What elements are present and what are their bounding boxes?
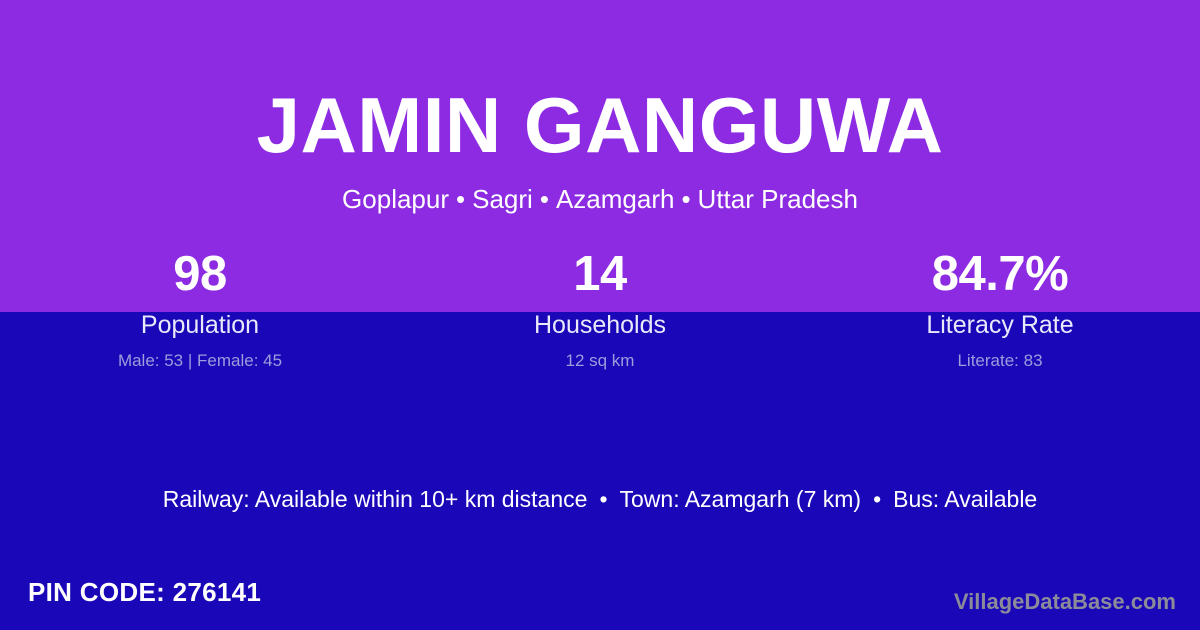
stat-households-label: Households [400,309,800,341]
breadcrumb-item-district: Azamgarh [556,184,675,214]
pin-code: PIN CODE: 276141 [28,576,261,608]
infrastructure-item-town: Town: Azamgarh (7 km) [620,486,862,512]
infrastructure-item-bus: Bus: Available [893,486,1037,512]
breadcrumb-separator: • [674,184,697,214]
page-title: JAMIN GANGUWA [0,80,1200,170]
stat-households-value: 14 [400,245,800,303]
breadcrumb: Goplapur•Sagri•Azamgarh•Uttar Pradesh [0,183,1200,215]
stat-population-value: 98 [0,245,400,303]
stat-literacy-rate-value: 84.7% [800,245,1200,303]
stat-households: 14 Households 12 sq km [400,245,800,372]
stat-literacy-rate: 84.7% Literacy Rate Literate: 83 [800,245,1200,372]
stats-row: 98 Population Male: 53 | Female: 45 14 H… [0,245,1200,372]
breadcrumb-separator: • [449,184,472,214]
breadcrumb-item-state: Uttar Pradesh [698,184,858,214]
breadcrumb-separator: • [533,184,556,214]
infrastructure-separator: • [587,486,619,512]
infrastructure-separator: • [861,486,893,512]
breadcrumb-item-block: Sagri [472,184,533,214]
stat-population-sublabel: Male: 53 | Female: 45 [0,350,400,372]
stat-population: 98 Population Male: 53 | Female: 45 [0,245,400,372]
village-info-card: JAMIN GANGUWA Goplapur•Sagri•Azamgarh•Ut… [0,0,1200,630]
stat-literacy-rate-sublabel: Literate: 83 [800,350,1200,372]
breadcrumb-item-village: Goplapur [342,184,449,214]
stat-households-sublabel: 12 sq km [400,350,800,372]
stat-literacy-rate-label: Literacy Rate [800,309,1200,341]
site-watermark: VillageDataBase.com [954,588,1176,616]
stat-population-label: Population [0,309,400,341]
infrastructure-item-railway: Railway: Available within 10+ km distanc… [163,486,588,512]
infrastructure-line: Railway: Available within 10+ km distanc… [0,484,1200,514]
